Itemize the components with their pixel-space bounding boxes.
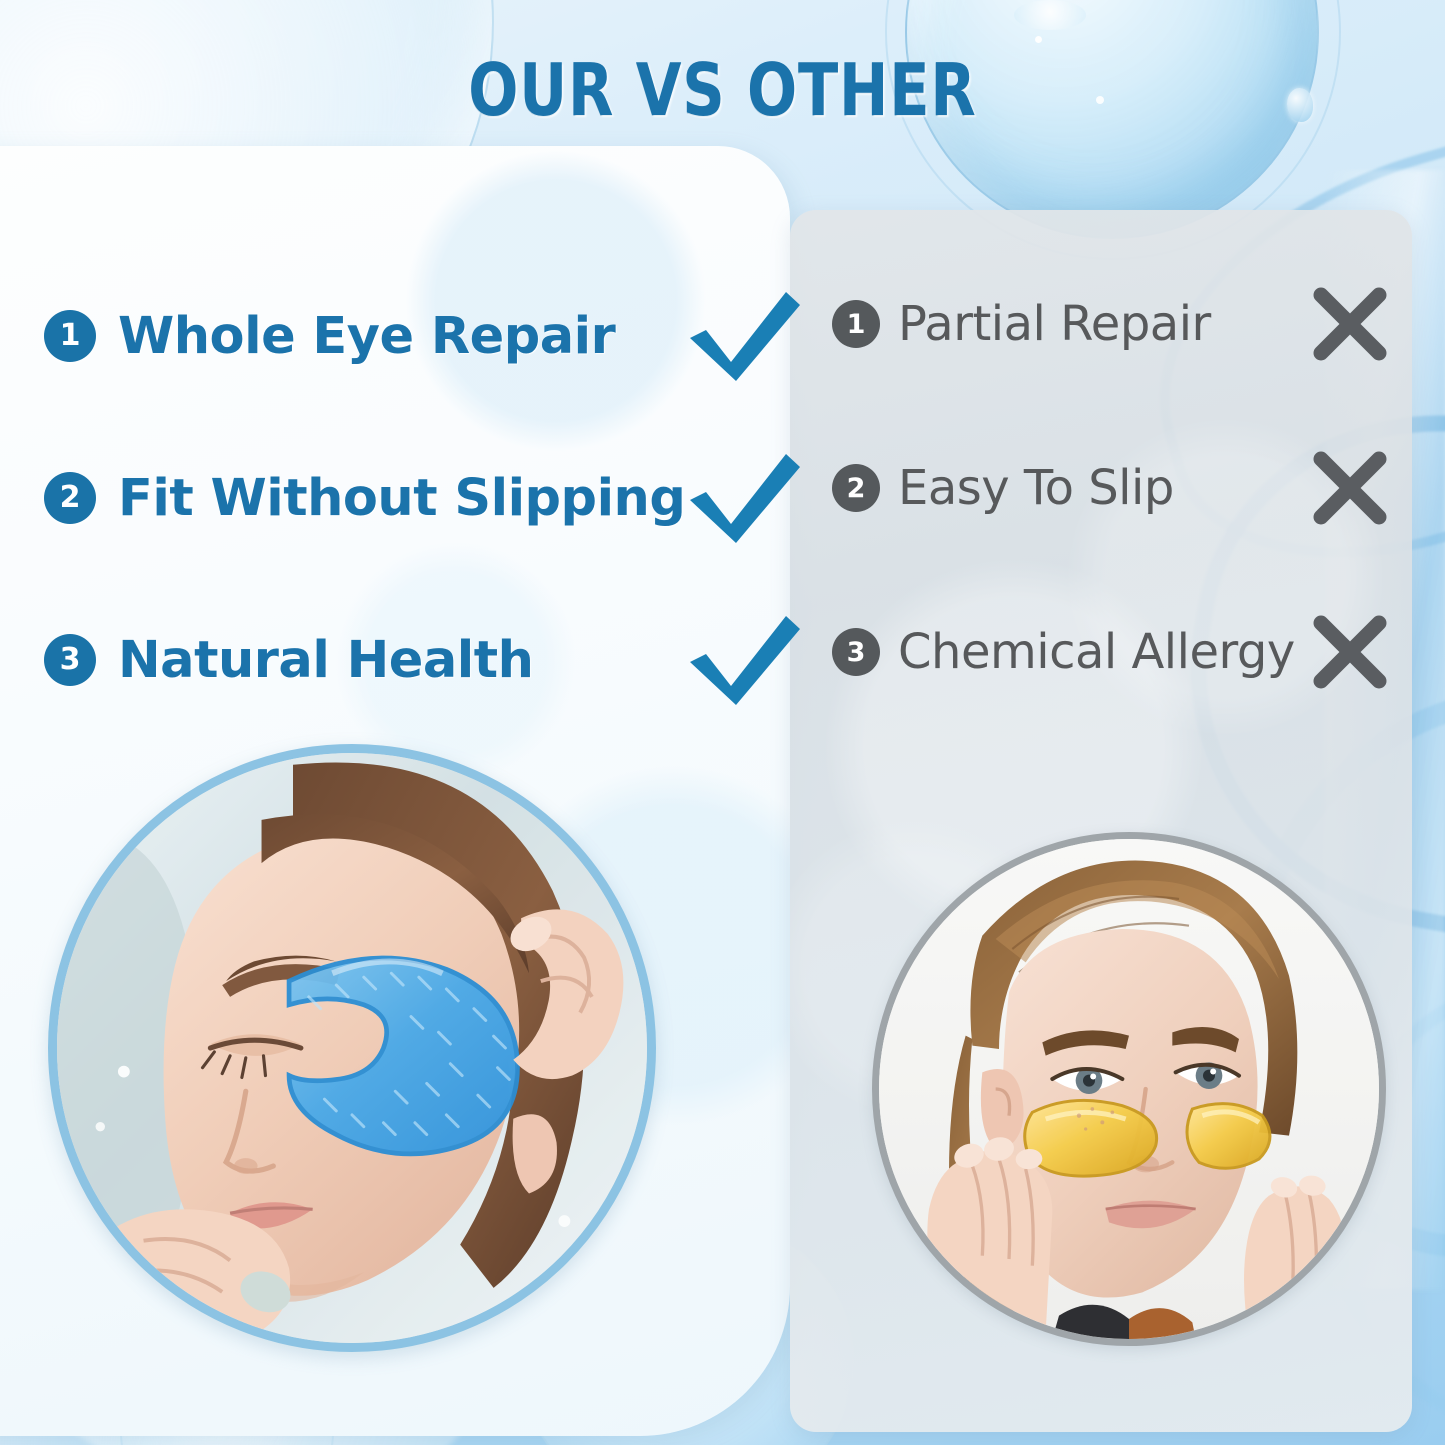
our-product-photo	[48, 744, 656, 1352]
our-feature-list: 1 Whole Eye Repair 2 Fit Without Slippin…	[44, 300, 804, 786]
list-item: 1 Partial Repair	[832, 288, 1392, 360]
other-product-photo	[872, 832, 1386, 1346]
number-badge: 1	[832, 300, 880, 348]
feature-label: Partial Repair	[898, 296, 1211, 352]
woman-with-gold-eye-patches-illustration	[879, 839, 1379, 1339]
list-item: 2 Fit Without Slipping	[44, 462, 804, 534]
check-icon	[686, 448, 804, 548]
feature-label: Natural Health	[118, 631, 533, 690]
feature-label: Easy To Slip	[898, 460, 1174, 516]
list-item: 3 Natural Health	[44, 624, 804, 696]
number-badge: 1	[44, 310, 96, 362]
number-badge: 3	[44, 634, 96, 686]
comparison-infographic: OUR VS OTHER 1 Whole Eye Repair 2 Fit Wi…	[0, 0, 1445, 1445]
feature-label: Whole Eye Repair	[118, 307, 615, 366]
list-item: 3 Chemical Allergy	[832, 616, 1392, 688]
cross-icon	[1308, 446, 1392, 530]
check-icon	[686, 286, 804, 386]
check-icon	[686, 610, 804, 710]
list-item: 2 Easy To Slip	[832, 452, 1392, 524]
number-badge: 2	[44, 472, 96, 524]
water-droplet-small-icon	[1014, 0, 1086, 30]
cross-icon	[1308, 610, 1392, 694]
number-badge: 2	[832, 464, 880, 512]
cross-icon	[1308, 282, 1392, 366]
sparkle-dot-icon	[1035, 36, 1042, 43]
number-badge: 3	[832, 628, 880, 676]
other-feature-list: 1 Partial Repair 2 Easy To Slip 3 Chemic	[832, 288, 1392, 780]
woman-with-blue-gel-eye-mask-illustration	[57, 753, 647, 1343]
feature-label: Chemical Allergy	[898, 624, 1295, 680]
list-item: 1 Whole Eye Repair	[44, 300, 804, 372]
page-title: OUR VS OTHER	[130, 48, 1315, 132]
feature-label: Fit Without Slipping	[118, 469, 685, 528]
